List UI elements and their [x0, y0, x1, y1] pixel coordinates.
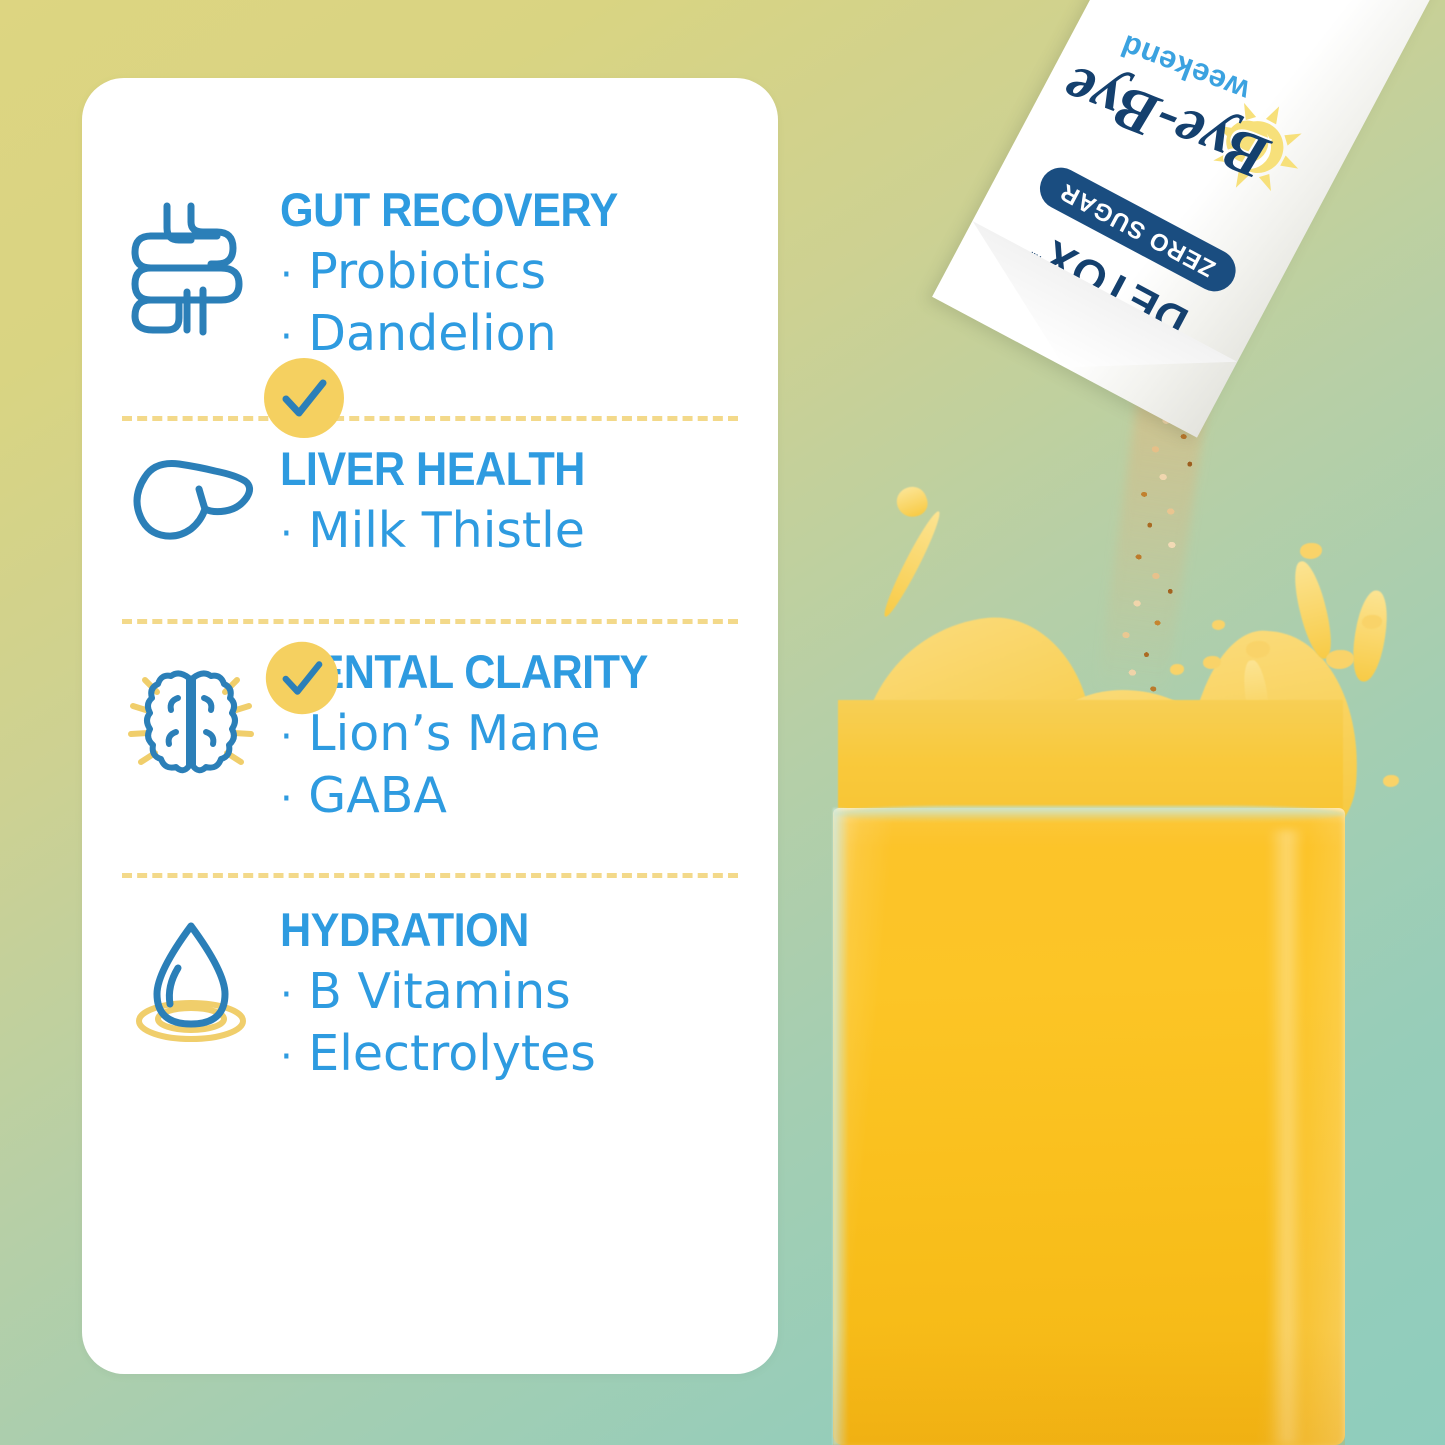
list-item: · Lion’s Mane: [280, 703, 744, 765]
list-item: · Milk Thistle: [280, 500, 744, 562]
bullet-list-hydration: · B Vitamins · Electrolytes: [280, 961, 744, 1084]
bullet-text: B Vitamins: [308, 963, 570, 1020]
icon-slot-liver: [116, 443, 266, 571]
text-slot-gut: GUT RECOVERY · Probiotics · Dandelion: [280, 184, 744, 364]
product-packet: -STOP DETOX™ ZERO SUGAR: [932, 0, 1445, 438]
splash-streak-right-b: [1348, 588, 1392, 684]
bullet-marker-icon: ·: [280, 511, 293, 557]
section-divider: [122, 416, 738, 421]
check-badge-liver-icon: [264, 640, 340, 716]
text-slot-droplet: HYDRATION · B Vitamins · Electrolytes: [280, 904, 744, 1084]
brain-icon: [121, 654, 261, 794]
benefit-section-gut-recovery: GUT RECOVERY · Probiotics · Dandelion: [116, 78, 744, 364]
bullet-text: Electrolytes: [308, 1025, 595, 1082]
bullet-text: Milk Thistle: [308, 502, 585, 559]
glass-bottom-shadow: [833, 1330, 1345, 1445]
bullet-marker-icon: ·: [280, 1034, 293, 1080]
check-badge-gut-icon: [262, 356, 346, 440]
text-slot-brain: MENTAL CLARITY · Lion’s Mane · GABA: [280, 646, 744, 826]
section-divider: [122, 873, 738, 878]
splash-droplet-1: [1300, 543, 1322, 559]
benefit-section-mental-clarity: MENTAL CLARITY · Lion’s Mane · GABA: [116, 624, 744, 826]
splash-droplet-tip-left: [893, 483, 931, 521]
list-item: · Probiotics: [280, 241, 744, 303]
section-divider: [122, 619, 738, 624]
bullet-marker-icon: ·: [280, 714, 293, 760]
glass-rim: [833, 806, 1345, 822]
bullet-list-gut: · Probiotics · Dandelion: [280, 241, 744, 364]
section-title-gut-recovery: GUT RECOVERY: [280, 186, 707, 233]
bullet-text: Probiotics: [308, 243, 546, 300]
water-droplet-icon: [121, 912, 261, 1052]
section-title-mental-clarity: MENTAL CLARITY: [280, 648, 707, 695]
benefit-section-hydration: HYDRATION · B Vitamins · Electrolytes: [116, 878, 744, 1084]
bullet-marker-icon: ·: [280, 776, 293, 822]
splash-streak-left: [879, 508, 945, 619]
bullet-text: Lion’s Mane: [308, 705, 600, 762]
section-title-liver-health: LIVER HEALTH: [280, 445, 707, 492]
benefits-card: GUT RECOVERY · Probiotics · Dandelion: [82, 78, 778, 1374]
bullet-marker-icon: ·: [280, 314, 293, 360]
icon-slot-brain: [116, 646, 266, 794]
section-title-hydration: HYDRATION: [280, 906, 707, 953]
bullet-text: Dandelion: [308, 305, 556, 362]
list-item: · GABA: [280, 765, 744, 827]
bullet-marker-icon: ·: [280, 972, 293, 1018]
icon-slot-droplet: [116, 904, 266, 1052]
text-slot-liver: LIVER HEALTH · Milk Thistle: [280, 443, 744, 562]
bullet-marker-icon: ·: [280, 252, 293, 298]
splash-droplet-3: [1326, 650, 1354, 669]
bullet-list-mental: · Lion’s Mane · GABA: [280, 703, 744, 826]
intestine-icon: [121, 192, 261, 342]
icon-slot-gut: [116, 184, 266, 342]
list-item: · B Vitamins: [280, 961, 744, 1023]
list-item: · Dandelion: [280, 303, 744, 365]
liver-icon: [121, 451, 261, 571]
splash-droplet-8: [1212, 620, 1225, 630]
bullet-list-liver: · Milk Thistle: [280, 500, 744, 562]
benefit-section-liver-health: LIVER HEALTH · Milk Thistle: [116, 421, 744, 571]
list-item: · Electrolytes: [280, 1023, 744, 1085]
bullet-text: GABA: [308, 767, 447, 824]
product-marketing-image: -STOP DETOX™ ZERO SUGAR: [0, 0, 1445, 1445]
splash-droplet-6: [1383, 775, 1399, 787]
packet-label: -STOP DETOX™ ZERO SUGAR: [932, 0, 1445, 438]
